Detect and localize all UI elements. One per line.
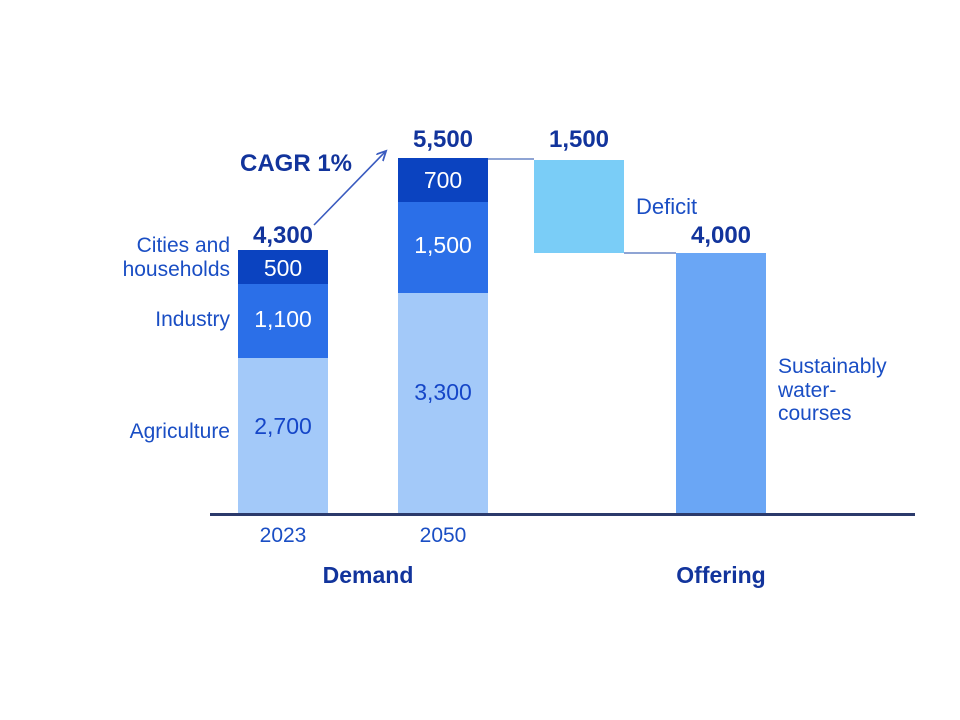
category-label-industry: Industry xyxy=(60,308,230,332)
category-label-agriculture: Agriculture xyxy=(60,420,230,444)
total-label-offering: 4,000 xyxy=(676,222,766,250)
axis-tick-2050: 2050 xyxy=(398,524,488,548)
value-label-2050-agriculture: 3,300 xyxy=(398,381,488,404)
value-label-2023-industry: 1,100 xyxy=(238,308,328,331)
category-label-cities-and-households: Cities and households xyxy=(60,234,230,281)
bar-deficit[interactable] xyxy=(534,160,624,253)
group-label-demand: Demand xyxy=(268,562,468,589)
water-demand-supply-chart: CAGR 1% Cities and households Industry A… xyxy=(0,0,960,720)
total-label-deficit: 1,500 xyxy=(534,126,624,154)
bar-offering[interactable] xyxy=(676,253,766,513)
value-label-2050-cities: 700 xyxy=(398,169,488,192)
connector-deficit-to-offering xyxy=(624,252,676,254)
cagr-annotation-label: CAGR 1% xyxy=(240,150,352,178)
bar-segment-2023-agriculture[interactable]: 2,700 xyxy=(238,358,328,513)
total-label-2023: 4,300 xyxy=(238,222,328,250)
axis-tick-2023: 2023 xyxy=(238,524,328,548)
bar-segment-2023-cities[interactable]: 500 xyxy=(238,250,328,284)
x-axis-line xyxy=(210,513,915,516)
bar-segment-2023-industry[interactable]: 1,100 xyxy=(238,284,328,358)
value-label-2023-agriculture: 2,700 xyxy=(238,415,328,438)
connector-2050-to-deficit xyxy=(488,158,534,160)
value-label-2023-cities: 500 xyxy=(238,257,328,280)
bar-segment-2050-agriculture[interactable]: 3,300 xyxy=(398,293,488,513)
deficit-annotation-label: Deficit xyxy=(636,194,697,220)
bar-segment-2050-industry[interactable]: 1,500 xyxy=(398,202,488,293)
total-label-2050: 5,500 xyxy=(398,126,488,154)
bar-segment-2050-cities[interactable]: 700 xyxy=(398,158,488,202)
supply-annotation-label: Sustainably water- courses xyxy=(778,355,948,426)
value-label-2050-industry: 1,500 xyxy=(398,234,488,257)
group-label-offering: Offering xyxy=(621,562,821,589)
